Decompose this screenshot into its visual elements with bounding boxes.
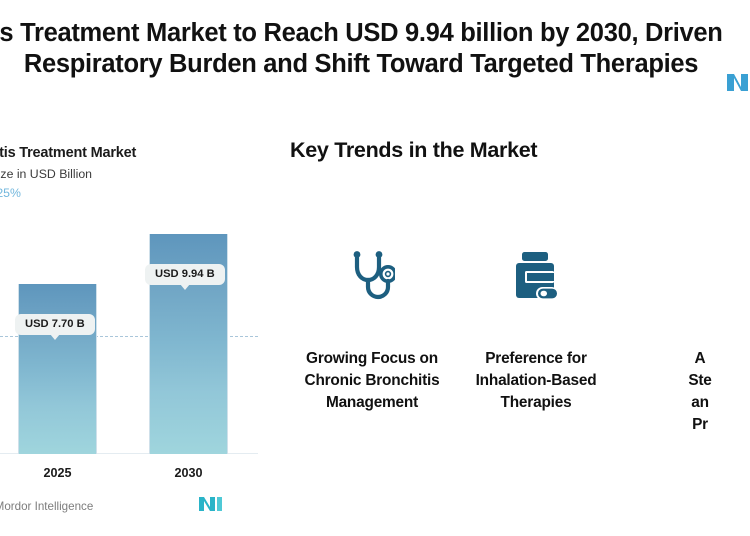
x-tick-2025: 2025 (18, 466, 97, 480)
trend-label-2: Preference for Inhalation-Based Therapie… (461, 348, 611, 414)
trend-item-2: Preference for Inhalation-Based Therapie… (454, 248, 618, 436)
bar-2025 (18, 284, 97, 454)
x-tick-2030: 2030 (149, 466, 228, 480)
chart-subtitle: larket Size in USD Billion (0, 167, 92, 181)
market-size-chart: ronchitis Treatment Market larket Size i… (0, 128, 272, 536)
mordor-m-logo-icon (725, 72, 750, 92)
stethoscope-icon (345, 248, 399, 310)
trend-item-1: Growing Focus on Chronic Bronchitis Mana… (290, 248, 454, 436)
mordor-m-logo-icon (198, 496, 224, 512)
cagr-value: 5.25% (0, 186, 21, 200)
key-trends-title: Key Trends in the Market (290, 138, 750, 163)
clipboard-icon (673, 248, 727, 310)
headline-line-1: s Treatment Market to Reach USD 9.94 bil… (0, 18, 750, 49)
page-title: s Treatment Market to Reach USD 9.94 bil… (0, 18, 750, 80)
value-label-2025: USD 7.70 B (15, 314, 95, 335)
trend-columns: Growing Focus on Chronic Bronchitis Mana… (290, 248, 750, 436)
trend-label-1: Growing Focus on Chronic Bronchitis Mana… (297, 348, 447, 414)
value-label-2030: USD 9.94 B (145, 264, 225, 285)
header: s Treatment Market to Reach USD 9.94 bil… (0, 0, 750, 108)
trend-item-3: A Ste an Pr (618, 248, 750, 436)
chart-plot-area: USD 7.70 B USD 9.94 B 2025 2030 (0, 214, 272, 490)
source-text: ource : Mordor Intelligence (0, 500, 93, 513)
key-trends-section: Key Trends in the Market Growi (290, 128, 750, 536)
headline-line-2: Respiratory Burden and Shift Toward Targ… (0, 49, 750, 80)
chart-cagr: AGR 5.25% (0, 186, 21, 200)
chart-title: ronchitis Treatment Market (0, 145, 136, 161)
medicine-bottle-pill-icon (509, 248, 563, 310)
trend-label-3: A Ste an Pr (625, 348, 750, 436)
infographic-page: s Treatment Market to Reach USD 9.94 bil… (0, 0, 750, 536)
